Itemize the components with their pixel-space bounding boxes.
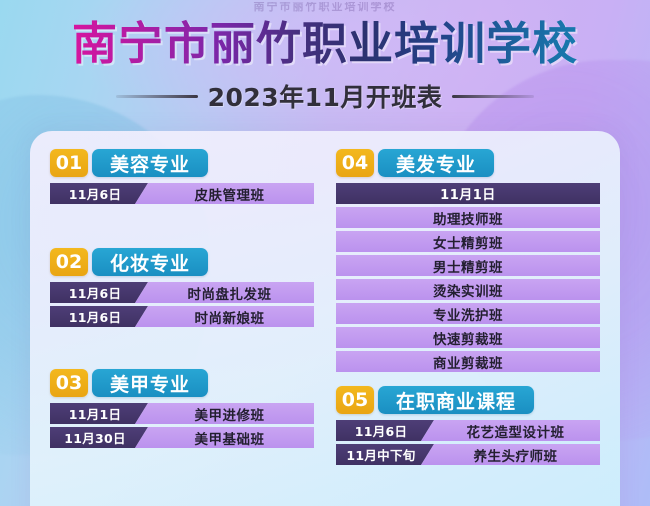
section-title-badge: 在职商业课程 [378, 386, 534, 414]
section-header-01: 01美容专业 [50, 149, 314, 177]
row-date: 11月6日 [50, 183, 148, 204]
row-date: 11月6日 [50, 306, 148, 327]
course-row: 专业洗护班 [336, 303, 600, 324]
date-banner: 11月1日 [336, 183, 600, 204]
row-course: 养生头疗师班 [421, 444, 600, 465]
subtitle-row: 2023年11月开班表 [0, 78, 650, 114]
row-date: 11月中下旬 [336, 444, 434, 465]
row-course: 时尚盘扎发班 [135, 282, 314, 303]
subtitle-rule-left [116, 95, 198, 98]
section-number-badge: 02 [50, 248, 88, 276]
page-title: 南宁市丽竹职业培训学校 [0, 18, 650, 70]
section-rows: 11月6日皮肤管理班 [50, 183, 314, 204]
schedule-card: 01美容专业11月6日皮肤管理班02化妆专业11月6日时尚盘扎发班11月6日时尚… [30, 131, 620, 506]
section-04: 04美发专业11月1日助理技师班女士精剪班男士精剪班烫染实训班专业洗护班快速剪裁… [336, 149, 600, 372]
section-header-02: 02化妆专业 [50, 248, 314, 276]
section-rows: 11月1日美甲进修班11月30日美甲基础班 [50, 403, 314, 448]
course-row: 商业剪裁班 [336, 351, 600, 372]
section-number-badge: 03 [50, 369, 88, 397]
row-date: 11月30日 [50, 427, 148, 448]
course-row: 烫染实训班 [336, 279, 600, 300]
section-rows: 11月6日花艺造型设计班11月中下旬养生头疗师班 [336, 420, 600, 465]
section-rows: 11月1日助理技师班女士精剪班男士精剪班烫染实训班专业洗护班快速剪裁班商业剪裁班 [336, 183, 600, 372]
row-course: 花艺造型设计班 [421, 420, 600, 441]
section-header-03: 03美甲专业 [50, 369, 314, 397]
row-date: 11月6日 [50, 282, 148, 303]
schedule-row: 11月6日花艺造型设计班 [336, 420, 600, 441]
poster-header: 南宁市丽竹职业培训学校 南宁市丽竹职业培训学校 2023年11月开班表 [0, 0, 650, 114]
subtitle-rule-right [452, 95, 534, 98]
course-row: 女士精剪班 [336, 231, 600, 252]
course-row: 男士精剪班 [336, 255, 600, 276]
schedule-row: 11月中下旬养生头疗师班 [336, 444, 600, 465]
schedule-row: 11月6日时尚新娘班 [50, 306, 314, 327]
row-course: 美甲进修班 [135, 403, 314, 424]
row-course: 美甲基础班 [135, 427, 314, 448]
row-date: 11月6日 [336, 420, 434, 441]
course-row: 快速剪裁班 [336, 327, 600, 348]
row-course: 皮肤管理班 [135, 183, 314, 204]
schedule-row: 11月30日美甲基础班 [50, 427, 314, 448]
section-number-badge: 04 [336, 149, 374, 177]
section-title-badge: 美甲专业 [92, 369, 208, 397]
section-number-badge: 05 [336, 386, 374, 414]
course-row: 助理技师班 [336, 207, 600, 228]
section-02: 02化妆专业11月6日时尚盘扎发班11月6日时尚新娘班 [50, 248, 314, 327]
row-date: 11月1日 [50, 403, 148, 424]
section-rows: 11月6日时尚盘扎发班11月6日时尚新娘班 [50, 282, 314, 327]
section-header-04: 04美发专业 [336, 149, 600, 177]
tiny-top-text: 南宁市丽竹职业培训学校 [0, 2, 650, 14]
page-subtitle: 2023年11月开班表 [208, 78, 443, 114]
section-title-badge: 化妆专业 [92, 248, 208, 276]
section-title-badge: 美容专业 [92, 149, 208, 177]
row-course: 时尚新娘班 [135, 306, 314, 327]
schedule-row: 11月6日皮肤管理班 [50, 183, 314, 204]
schedule-row: 11月6日时尚盘扎发班 [50, 282, 314, 303]
schedule-column-left: 01美容专业11月6日皮肤管理班02化妆专业11月6日时尚盘扎发班11月6日时尚… [50, 149, 314, 506]
section-title-badge: 美发专业 [378, 149, 494, 177]
section-01: 01美容专业11月6日皮肤管理班 [50, 149, 314, 204]
section-05: 05在职商业课程11月6日花艺造型设计班11月中下旬养生头疗师班 [336, 386, 600, 465]
section-number-badge: 01 [50, 149, 88, 177]
schedule-column-right: 04美发专业11月1日助理技师班女士精剪班男士精剪班烫染实训班专业洗护班快速剪裁… [336, 149, 600, 506]
section-header-05: 05在职商业课程 [336, 386, 600, 414]
section-03: 03美甲专业11月1日美甲进修班11月30日美甲基础班 [50, 369, 314, 448]
schedule-row: 11月1日美甲进修班 [50, 403, 314, 424]
